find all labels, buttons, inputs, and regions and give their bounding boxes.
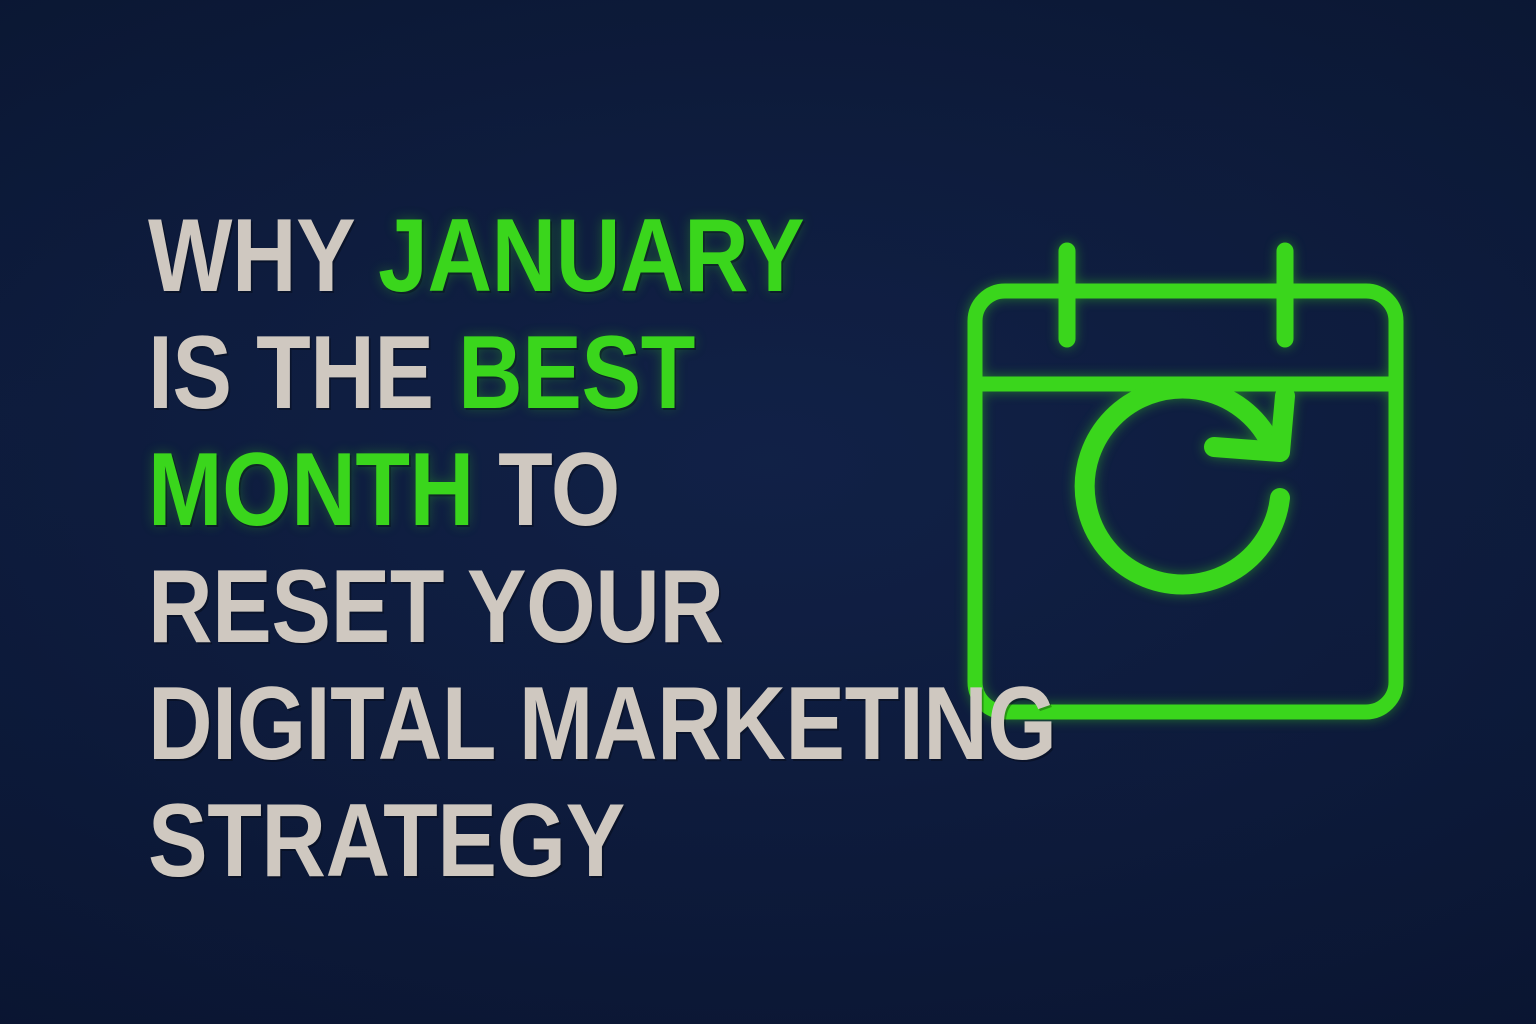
- headline-segment: TO: [474, 432, 620, 548]
- poster-canvas: WHY JANUARY IS THE BEST MONTH TO RESET Y…: [0, 0, 1536, 1024]
- headline-line-2: IS THE BEST: [148, 315, 974, 432]
- headline-segment-accent: BEST: [458, 315, 695, 431]
- headline-segment: RESET YOUR: [148, 549, 724, 665]
- headline-segment: WHY: [148, 198, 378, 314]
- headline-segment: IS THE: [148, 315, 458, 431]
- headline-line-6: STRATEGY: [148, 783, 974, 900]
- page-title: WHY JANUARY IS THE BEST MONTH TO RESET Y…: [148, 198, 1108, 900]
- headline-segment: STRATEGY: [148, 783, 625, 899]
- refresh-arrow-arc-icon: [1085, 388, 1280, 584]
- headline-line-4: RESET YOUR: [148, 549, 974, 666]
- headline-segment-accent: JANUARY: [378, 198, 804, 314]
- headline-line-5: DIGITAL MARKETING: [148, 666, 974, 783]
- headline-segment-accent: MONTH: [148, 432, 474, 548]
- headline-line-3: MONTH TO: [148, 432, 974, 549]
- headline-line-1: WHY JANUARY: [148, 198, 974, 315]
- headline-segment: DIGITAL MARKETING: [148, 666, 1057, 782]
